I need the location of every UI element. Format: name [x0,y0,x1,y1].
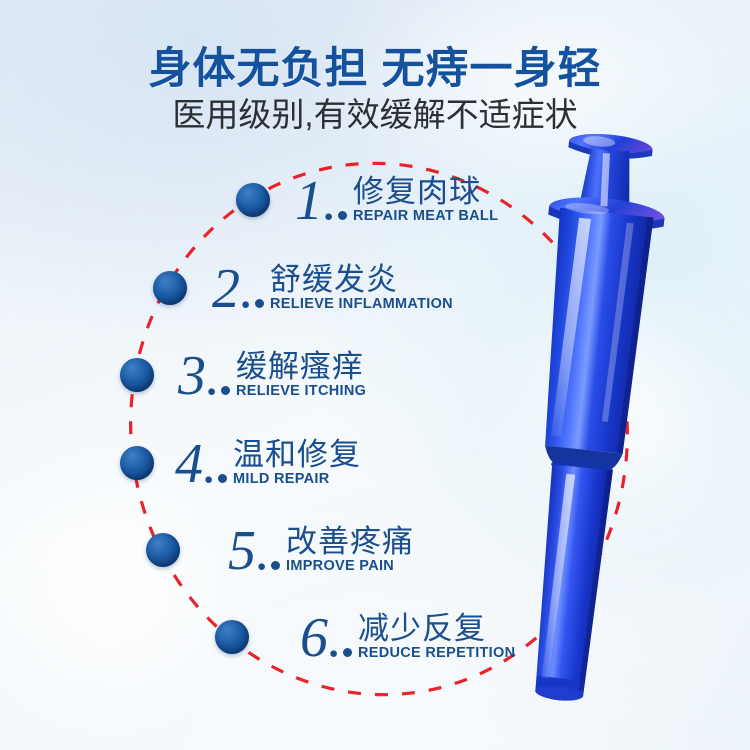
feature-bullet-icon [338,211,347,220]
feature-text-block: 温和修复 MILD REPAIR [233,439,361,487]
feature-label-en: IMPROVE PAIN [286,559,394,574]
feature-item-4: 4. 温和修复 MILD REPAIR [175,439,361,488]
feature-number: 1. [295,179,337,225]
feature-text-block: 改善疼痛 IMPROVE PAIN [286,526,414,574]
feature-label-en: REPAIR MEAT BALL [353,209,498,224]
feature-text-block: 舒缓发炎 RELIEVE INFLAMMATION [270,264,453,312]
page-title: 身体无负担 无痔一身轻 [0,34,750,96]
feature-number: 4. [175,442,217,488]
bullet-dot-2 [153,271,187,305]
feature-label-en: REDUCE REPETITION [358,646,515,661]
feature-number: 6. [300,616,342,662]
feature-bullet-icon [221,386,230,395]
feature-item-5: 5. 改善疼痛 IMPROVE PAIN [228,526,414,575]
feature-label-cn: 修复肉球 [353,176,481,208]
feature-bullet-icon [271,561,280,570]
feature-number: 5. [228,529,270,575]
feature-label-cn: 改善疼痛 [286,526,414,558]
feature-number: 3. [178,354,220,400]
feature-bullet-icon [343,648,352,657]
feature-label-en: RELIEVE ITCHING [236,384,366,399]
feature-label-en: MILD REPAIR [233,472,329,487]
bullet-dot-4 [120,446,154,480]
feature-item-3: 3. 缓解瘙痒 RELIEVE ITCHING [178,351,366,400]
feature-label-cn: 减少反复 [358,613,486,645]
feature-bullet-icon [218,474,227,483]
bullet-dot-5 [146,533,180,567]
feature-item-2: 2. 舒缓发炎 RELIEVE INFLAMMATION [212,264,453,313]
feature-label-cn: 温和修复 [233,439,361,471]
feature-label-cn: 舒缓发炎 [270,264,398,296]
bullet-dot-3 [120,358,154,392]
feature-label-en: RELIEVE INFLAMMATION [270,297,453,312]
feature-number: 2. [212,267,254,313]
feature-item-6: 6. 减少反复 REDUCE REPETITION [300,613,515,662]
feature-text-block: 缓解瘙痒 RELIEVE ITCHING [236,351,366,399]
poster-canvas: 身体无负担 无痔一身轻 医用级别,有效缓解不适症状 1. 修复肉球 REPAIR… [0,0,750,750]
feature-text-block: 减少反复 REDUCE REPETITION [358,613,515,661]
page-subtitle: 医用级别,有效缓解不适症状 [0,88,750,136]
feature-label-cn: 缓解瘙痒 [236,351,364,383]
feature-bullet-icon [255,299,264,308]
feature-text-block: 修复肉球 REPAIR MEAT BALL [353,176,498,224]
feature-item-1: 1. 修复肉球 REPAIR MEAT BALL [295,176,498,225]
bullet-dot-6 [215,620,249,654]
background-glow-right [470,250,750,580]
bullet-dot-1 [236,183,270,217]
